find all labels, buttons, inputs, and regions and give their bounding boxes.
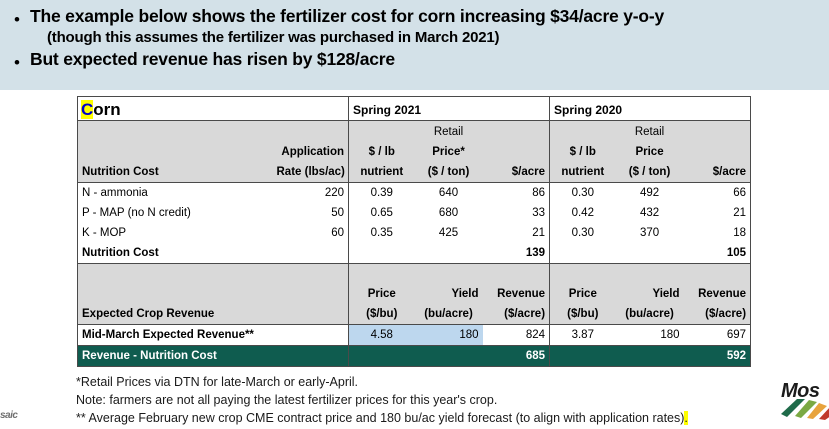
- total-spacer: [273, 243, 349, 264]
- header-spacer: [273, 284, 349, 304]
- period-header-2021: Spring 2021: [349, 97, 550, 121]
- header-banner: • The example below shows the fertilizer…: [0, 0, 829, 90]
- nutrition-cost-total-row: Nutrition Cost 139 105: [78, 243, 751, 264]
- period-header-2020: Spring 2020: [550, 97, 751, 121]
- total-label: Nutrition Cost: [78, 243, 273, 264]
- header-spacer: [78, 121, 273, 142]
- mid-march-2020-price: 3.87: [550, 325, 616, 346]
- header-2021-revenue: Revenue: [483, 284, 550, 304]
- mid-march-2020-yield: 180: [616, 325, 684, 346]
- mid-march-2020-revenue: 697: [684, 325, 751, 346]
- net-spacer: [349, 346, 415, 367]
- row-2021-peracre: 86: [483, 182, 550, 203]
- row-rate: 220: [273, 182, 349, 203]
- header-spacer: [349, 121, 415, 142]
- footnote-line-2: Note: farmers are not all paying the lat…: [76, 392, 766, 410]
- header-spacer: [684, 142, 751, 162]
- footnote-line-1: *Retail Prices via DTN for late-March or…: [76, 374, 766, 392]
- bullet-glyph-icon: •: [14, 49, 30, 71]
- corn-initial-highlight: C: [81, 100, 93, 119]
- header-2020-price: Price: [550, 284, 616, 304]
- corner-watermark: saic: [0, 410, 17, 421]
- table-header-row-1: Retail Retail: [78, 121, 751, 142]
- row-2020-retail: 492: [616, 182, 684, 203]
- row-2020-peracre: 21: [684, 203, 751, 223]
- bullet-1-subtext: (though this assumes the fertilizer was …: [47, 29, 819, 47]
- footnote-line-3-text: ** Average February new crop CME contrac…: [76, 411, 684, 425]
- row-2020-perlb: 0.42: [550, 203, 616, 223]
- revenue-header-row-2: Expected Crop Revenue ($/bu) (bu/acre) (…: [78, 304, 751, 325]
- bullet-item-2: • But expected revenue has risen by $128…: [14, 49, 819, 71]
- header-2021-nutrient: nutrient: [349, 162, 415, 183]
- header-spacer: [273, 263, 349, 284]
- header-2021-retail: Retail: [415, 121, 483, 142]
- header-2020-price-unit: ($/bu): [550, 304, 616, 325]
- header-spacer: [483, 121, 550, 142]
- mosaic-logo: Mos: [781, 378, 829, 420]
- header-2020-revenue-unit: ($/acre): [684, 304, 751, 325]
- header-2020-yield: Yield: [616, 284, 684, 304]
- row-label: N - ammonia: [78, 182, 273, 203]
- row-2021-retail: 425: [415, 223, 483, 243]
- header-spacer: [684, 121, 751, 142]
- row-label: K - MOP: [78, 223, 273, 243]
- row-2021-peracre: 33: [483, 203, 550, 223]
- table-row: K - MOP 60 0.35 425 21 0.30 370 18: [78, 223, 751, 243]
- header-spacer: [273, 304, 349, 325]
- header-2020-perton: ($ / ton): [616, 162, 684, 183]
- mid-march-spacer: [273, 325, 349, 346]
- header-2020-retail: Retail: [616, 121, 684, 142]
- header-2021-perton: ($ / ton): [415, 162, 483, 183]
- table-row: N - ammonia 220 0.39 640 86 0.30 492 66: [78, 182, 751, 203]
- row-label: P - MAP (no N credit): [78, 203, 273, 223]
- row-2021-perlb: 0.35: [349, 223, 415, 243]
- net-2020-value: 592: [684, 346, 751, 367]
- header-2020-perlb: $ / lb: [550, 142, 616, 162]
- net-spacer: [273, 346, 349, 367]
- table-row: P - MAP (no N credit) 50 0.65 680 33 0.4…: [78, 203, 751, 223]
- header-2021-yield: Yield: [415, 284, 483, 304]
- expected-crop-revenue-label: Expected Crop Revenue: [78, 304, 273, 325]
- row-2020-peracre: 66: [684, 182, 751, 203]
- net-spacer: [616, 346, 684, 367]
- header-nutrition-cost: Nutrition Cost: [78, 162, 273, 183]
- bullet-1-text: The example below shows the fertilizer c…: [30, 6, 664, 27]
- header-2020-peracre: $/acre: [684, 162, 751, 183]
- header-2020-revenue: Revenue: [684, 284, 751, 304]
- table-header-row-3: Nutrition Cost Rate (lbs/ac) nutrient ($…: [78, 162, 751, 183]
- net-spacer: [415, 346, 483, 367]
- header-2021-perlb: $ / lb: [349, 142, 415, 162]
- row-2020-perlb: 0.30: [550, 223, 616, 243]
- header-spacer: [550, 263, 616, 284]
- header-spacer: [78, 263, 273, 284]
- header-2021-peracre: $/acre: [483, 162, 550, 183]
- header-2021-price-unit: ($/bu): [349, 304, 415, 325]
- row-2020-retail: 432: [616, 203, 684, 223]
- mid-march-2021-price: 4.58: [349, 325, 415, 346]
- mid-march-label: Mid-March Expected Revenue**: [78, 325, 273, 346]
- corn-title-rest: orn: [93, 100, 120, 119]
- total-2020-peracre: 105: [684, 243, 751, 264]
- header-2021-revenue-unit: ($/acre): [483, 304, 550, 325]
- header-spacer: [550, 121, 616, 142]
- header-spacer: [78, 142, 273, 162]
- total-spacer: [415, 243, 483, 264]
- footnote-line-3-highlight: .: [684, 411, 687, 425]
- mosaic-logo-swoosh-icon: [781, 398, 829, 420]
- header-spacer: [684, 263, 751, 284]
- header-2020-yield-unit: (bu/acre): [616, 304, 684, 325]
- table-header-row-2: Application $ / lb Price* $ / lb Price: [78, 142, 751, 162]
- revenue-header-spacer-row: [78, 263, 751, 284]
- header-2021-price: Price: [349, 284, 415, 304]
- header-spacer: [616, 263, 684, 284]
- header-spacer: [273, 121, 349, 142]
- header-2021-price-star: Price*: [415, 142, 483, 162]
- revenue-minus-cost-row: Revenue - Nutrition Cost 685 592: [78, 346, 751, 367]
- total-spacer: [616, 243, 684, 264]
- total-spacer: [349, 243, 415, 264]
- mid-march-revenue-row: Mid-March Expected Revenue** 4.58 180 82…: [78, 325, 751, 346]
- net-label: Revenue - Nutrition Cost: [78, 346, 273, 367]
- header-spacer: [78, 284, 273, 304]
- row-2021-perlb: 0.65: [349, 203, 415, 223]
- header-spacer: [483, 263, 550, 284]
- table-title-row: Corn Spring 2021 Spring 2020: [78, 97, 751, 121]
- row-2020-retail: 370: [616, 223, 684, 243]
- header-rate: Rate (lbs/ac): [273, 162, 349, 183]
- net-2021-value: 685: [483, 346, 550, 367]
- header-spacer: [349, 263, 415, 284]
- row-2020-perlb: 0.30: [550, 182, 616, 203]
- row-rate: 50: [273, 203, 349, 223]
- footnotes-block: *Retail Prices via DTN for late-March or…: [76, 374, 766, 427]
- total-2021-peracre: 139: [483, 243, 550, 264]
- bullet-item-1: • The example below shows the fertilizer…: [14, 6, 819, 28]
- header-spacer: [483, 142, 550, 162]
- table-title-corn: Corn: [78, 97, 349, 121]
- corn-economics-table-wrapper: Corn Spring 2021 Spring 2020 Retail Reta…: [77, 96, 749, 367]
- header-2020-nutrient: nutrient: [550, 162, 616, 183]
- header-2020-price: Price: [616, 142, 684, 162]
- row-2021-peracre: 21: [483, 223, 550, 243]
- header-application: Application: [273, 142, 349, 162]
- bullet-2-text: But expected revenue has risen by $128/a…: [30, 49, 395, 70]
- mid-march-2021-revenue: 824: [483, 325, 550, 346]
- row-rate: 60: [273, 223, 349, 243]
- footnote-line-3: ** Average February new crop CME contrac…: [76, 410, 766, 428]
- revenue-header-row-1: Price Yield Revenue Price Yield Revenue: [78, 284, 751, 304]
- header-2021-yield-unit: (bu/acre): [415, 304, 483, 325]
- row-2021-retail: 680: [415, 203, 483, 223]
- row-2020-peracre: 18: [684, 223, 751, 243]
- header-spacer: [415, 263, 483, 284]
- net-spacer: [550, 346, 616, 367]
- row-2021-perlb: 0.39: [349, 182, 415, 203]
- bullet-glyph-icon: •: [14, 6, 30, 28]
- total-spacer: [550, 243, 616, 264]
- row-2021-retail: 640: [415, 182, 483, 203]
- corn-economics-table: Corn Spring 2021 Spring 2020 Retail Reta…: [77, 96, 751, 367]
- mid-march-2021-yield: 180: [415, 325, 483, 346]
